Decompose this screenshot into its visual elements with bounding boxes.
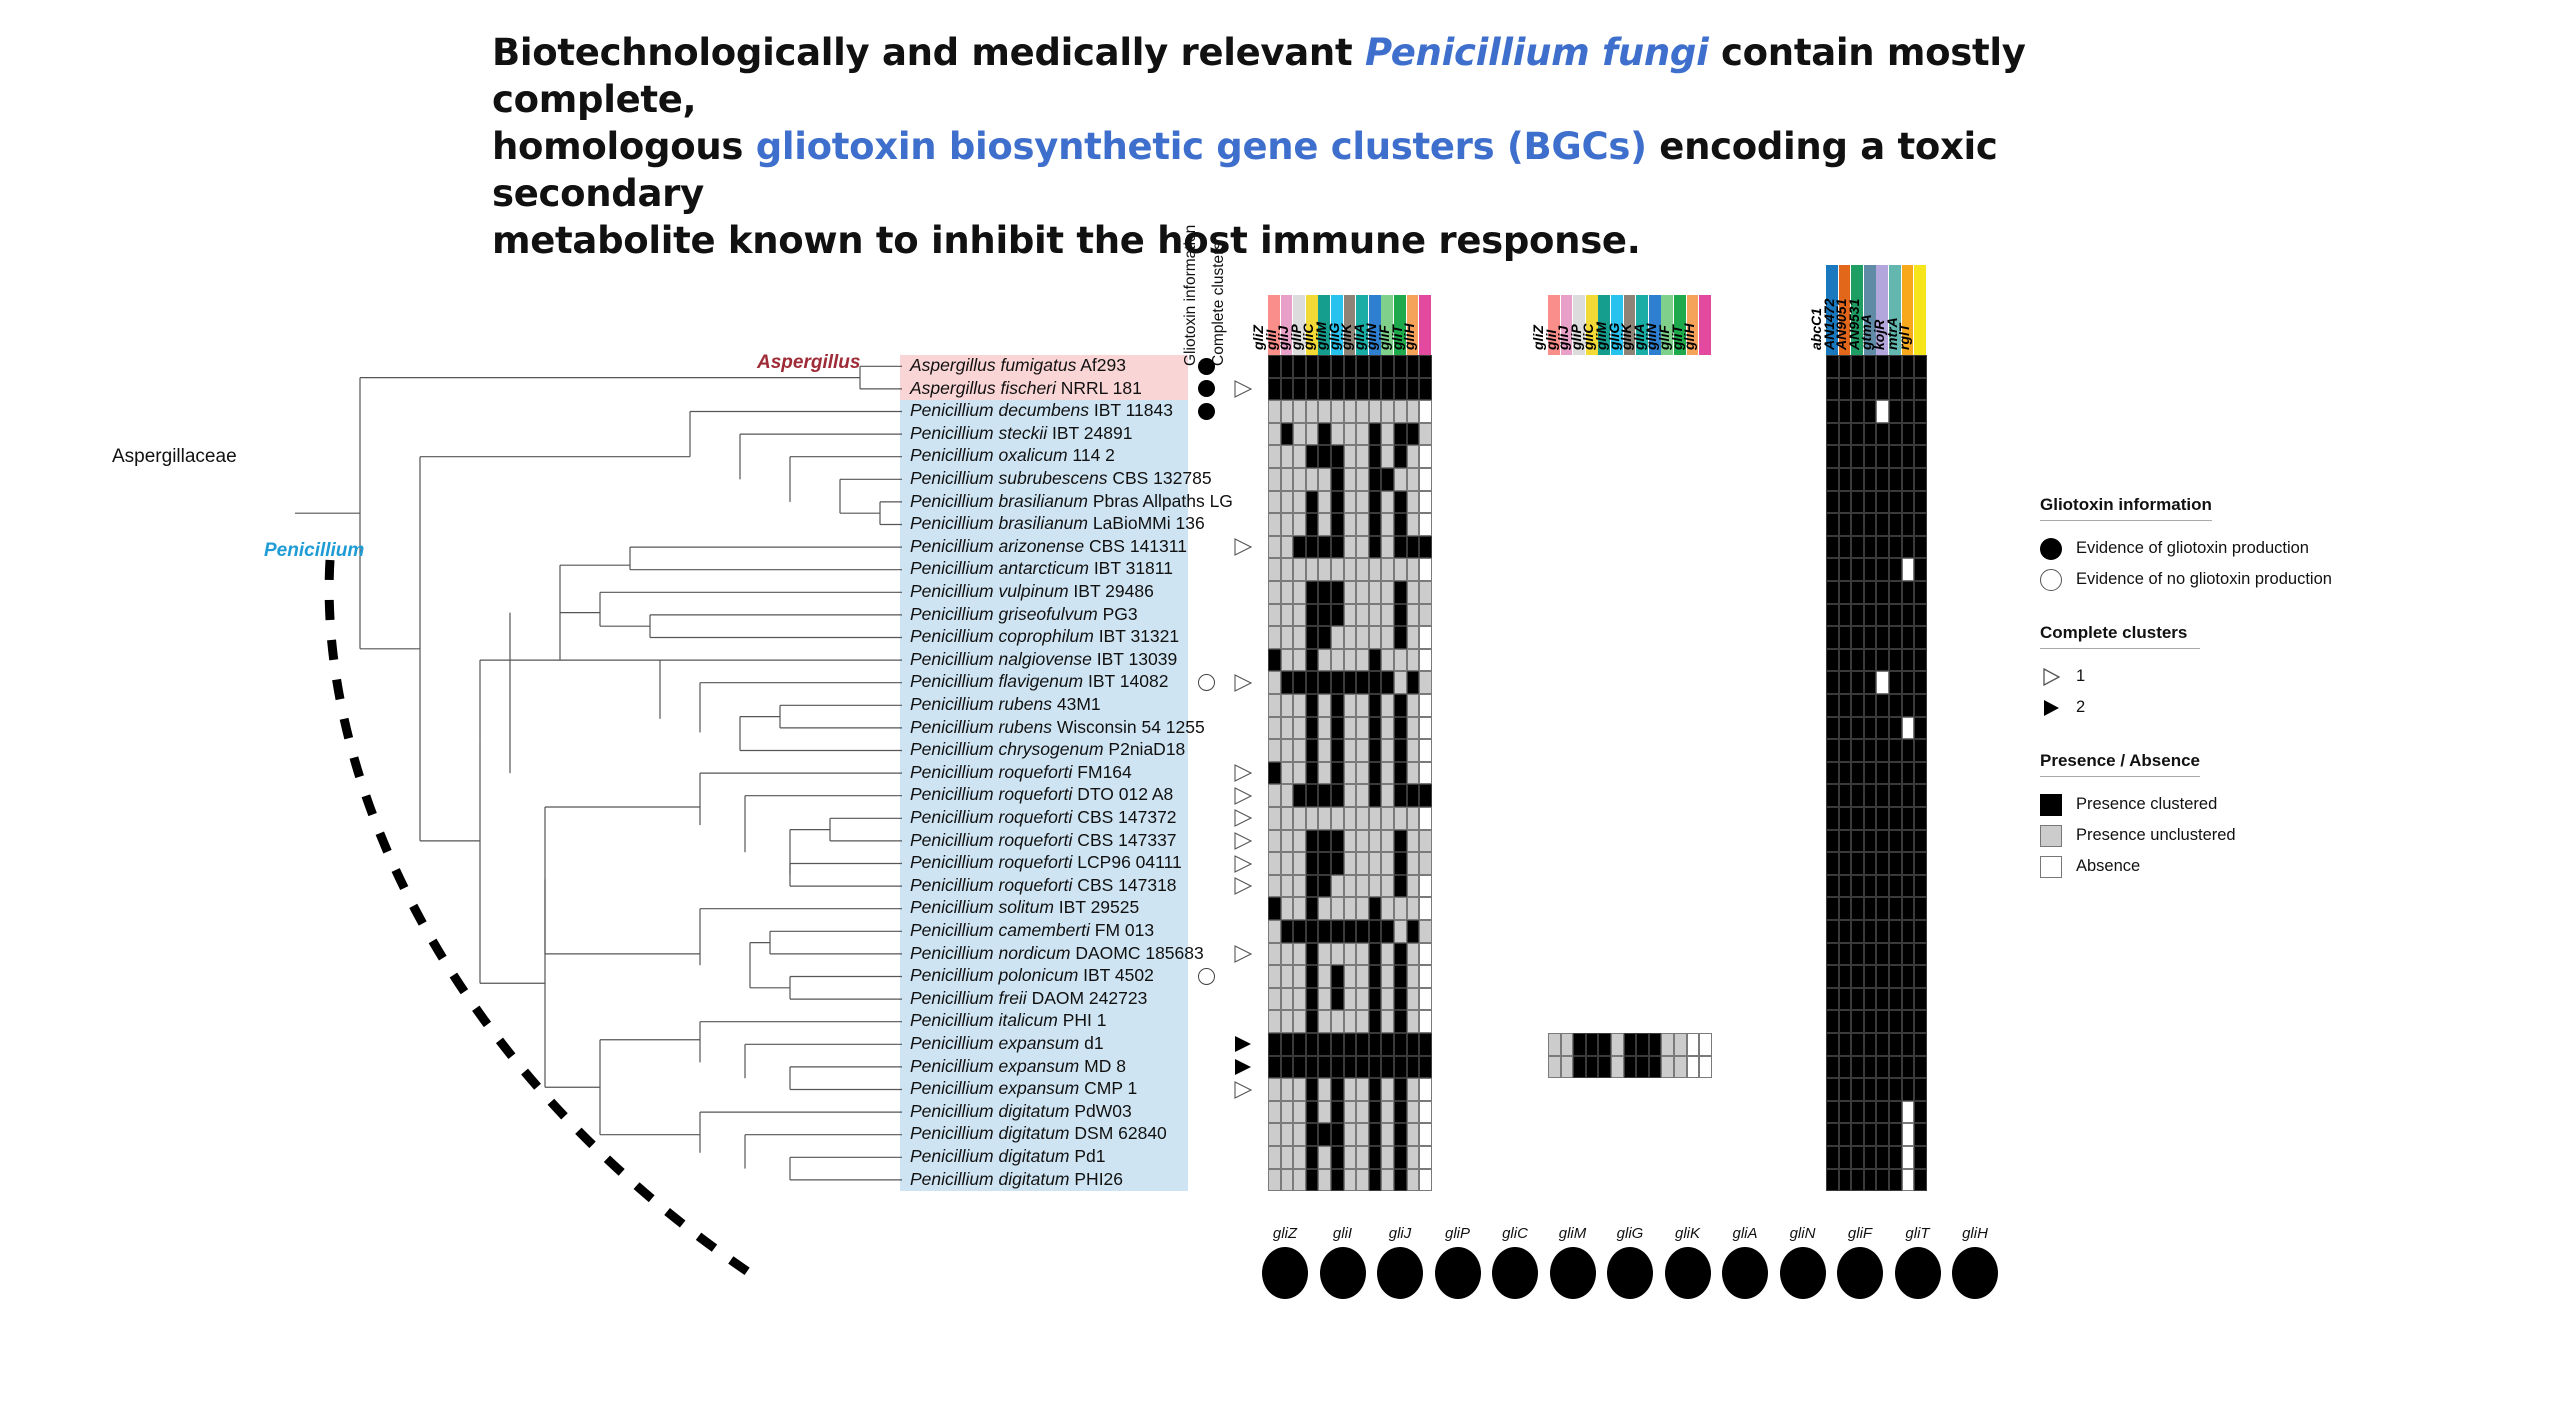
- heatmap-cell: [1826, 378, 1839, 401]
- heatmap-cell: [1407, 830, 1420, 853]
- heatmap-cell: [1356, 739, 1369, 762]
- taxon-species: Penicillium rubens: [910, 717, 1052, 737]
- heatmap-cell: [1851, 830, 1864, 853]
- heatmap-cell: [1419, 400, 1432, 423]
- heatmap-cell: [1674, 1033, 1687, 1056]
- heatmap-cell: [1407, 1101, 1420, 1124]
- heatmap-cell: [1331, 649, 1344, 672]
- heatmap-cell: [1394, 920, 1407, 943]
- heatmap-cell: [1331, 1146, 1344, 1169]
- heatmap-cell: [1889, 943, 1902, 966]
- legend-panel: Gliotoxin information Evidence of glioto…: [2040, 495, 2470, 910]
- heatmap-cell: [1419, 988, 1432, 1011]
- heatmap-cell: [1293, 875, 1306, 898]
- heatmap-cell: [1293, 400, 1306, 423]
- heatmap-cell: [1902, 852, 1915, 875]
- taxon-species: Penicillium oxalicum: [910, 445, 1068, 465]
- heatmap-cell: [1876, 604, 1889, 627]
- heatmap-cell: [1369, 1010, 1382, 1033]
- heatmap-cell: [1826, 807, 1839, 830]
- heatmap-cell: [1331, 513, 1344, 536]
- heatmap-cell: [1661, 1033, 1674, 1056]
- legend-item: 1: [2040, 661, 2470, 692]
- heatmap-cell: [1356, 649, 1369, 672]
- heatmap-cell: [1344, 468, 1357, 491]
- heatmap-cell: [1586, 1033, 1599, 1056]
- heatmap-cell: [1876, 875, 1889, 898]
- heatmap-cell: [1876, 581, 1889, 604]
- heatmap-cell: [1381, 581, 1394, 604]
- heatmap-cell: [1839, 852, 1852, 875]
- heatmap-cell: [1268, 423, 1281, 446]
- heatmap-cell: [1839, 943, 1852, 966]
- heatmap-cell: [1344, 965, 1357, 988]
- heatmap-cell: [1851, 513, 1864, 536]
- heatmap-cell: [1902, 1101, 1915, 1124]
- heatmap-cell: [1889, 1123, 1902, 1146]
- open-triangle-icon: [2040, 666, 2062, 688]
- heatmap-cell: [1864, 1146, 1877, 1169]
- legend-label: Presence clustered: [2076, 795, 2217, 814]
- heatmap-cell: [1381, 784, 1394, 807]
- heatmap-cell: [1356, 920, 1369, 943]
- heatmap-cell: [1902, 739, 1915, 762]
- heatmap-cell: [1407, 671, 1420, 694]
- heatmap-cell: [1407, 1123, 1420, 1146]
- heatmap-cell: [1331, 468, 1344, 491]
- taxon-species: Penicillium antarcticum: [910, 558, 1089, 578]
- heatmap-cell: [1344, 378, 1357, 401]
- heatmap-cell: [1318, 739, 1331, 762]
- gene-header-label: rglT: [1893, 324, 1915, 353]
- taxon-strain: IBT 13039: [1092, 649, 1177, 669]
- heatmap-cell: [1851, 988, 1864, 1011]
- taxon-label: Penicillium solitum IBT 29525: [910, 896, 1139, 919]
- heatmap-cell: [1369, 355, 1382, 378]
- heatmap-cell: [1344, 649, 1357, 672]
- heatmap-cell: [1293, 762, 1306, 785]
- heatmap-cell: [1876, 988, 1889, 1011]
- complete-clusters-1-icon: [1234, 945, 1252, 968]
- heatmap-cell: [1864, 852, 1877, 875]
- heatmap-cell: [1394, 1078, 1407, 1101]
- heatmap-cell: [1902, 1123, 1915, 1146]
- heatmap-cell: [1611, 1056, 1624, 1079]
- heatmap-cell: [1839, 830, 1852, 853]
- legend-label: Absence: [2076, 857, 2140, 876]
- heatmap-cell: [1281, 920, 1294, 943]
- heatmap-cell: [1851, 943, 1864, 966]
- heatmap-cell: [1889, 920, 1902, 943]
- heatmap-cell: [1407, 965, 1420, 988]
- heatmap-cell: [1851, 423, 1864, 446]
- heatmap-cell: [1356, 355, 1369, 378]
- heatmap-cell: [1318, 671, 1331, 694]
- heatmap-cell: [1394, 626, 1407, 649]
- heatmap-cell: [1826, 988, 1839, 1011]
- heatmap-cell: [1902, 491, 1915, 514]
- no-gliotoxin-production-icon: [1198, 968, 1215, 985]
- heatmap-cell: [1419, 468, 1432, 491]
- heatmap-cell: [1331, 1033, 1344, 1056]
- heatmap-cell: [1889, 988, 1902, 1011]
- taxon-strain: Pbras Allpaths LG: [1088, 491, 1233, 511]
- heatmap-cell: [1876, 626, 1889, 649]
- heatmap-cell: [1369, 965, 1382, 988]
- heatmap-cell: [1318, 604, 1331, 627]
- taxon-label: Penicillium decumbens IBT 11843: [910, 399, 1173, 422]
- heatmap-cell: [1876, 784, 1889, 807]
- heatmap-cell: [1902, 468, 1915, 491]
- heatmap-cell: [1407, 762, 1420, 785]
- heatmap-cell: [1318, 491, 1331, 514]
- heatmap-cell: [1889, 536, 1902, 559]
- heatmap-cell: [1306, 1010, 1319, 1033]
- heatmap-cell: [1369, 830, 1382, 853]
- heatmap-cell: [1331, 807, 1344, 830]
- heatmap-cell: [1851, 694, 1864, 717]
- heatmap-cell: [1394, 1146, 1407, 1169]
- heatmap-cell: [1851, 1010, 1864, 1033]
- heatmap-cell: [1281, 1078, 1294, 1101]
- heatmap-cell: [1889, 694, 1902, 717]
- heatmap-cell: [1826, 400, 1839, 423]
- taxon-label: Penicillium polonicum IBT 4502: [910, 964, 1154, 987]
- heatmap-cell: [1369, 400, 1382, 423]
- heatmap-cell: [1268, 445, 1281, 468]
- heatmap-cell: [1318, 1056, 1331, 1079]
- heatmap-cell: [1281, 807, 1294, 830]
- heatmap-cell: [1344, 1033, 1357, 1056]
- heatmap-cell: [1419, 897, 1432, 920]
- gliotoxin-production-icon: [1198, 403, 1215, 420]
- heatmap-cell: [1864, 739, 1877, 762]
- taxon-label: Penicillium brasilianum Pbras Allpaths L…: [910, 490, 1233, 513]
- filled-circle-icon: [2040, 538, 2062, 560]
- heatmap-cell: [1306, 784, 1319, 807]
- heatmap-cell: [1344, 807, 1357, 830]
- heatmap-cell: [1826, 355, 1839, 378]
- heatmap-cell: [1318, 920, 1331, 943]
- heatmap-cell: [1356, 400, 1369, 423]
- heatmap-cell: [1369, 807, 1382, 830]
- legend-title-presence: Presence / Absence: [2040, 751, 2200, 777]
- heatmap-cell: [1839, 649, 1852, 672]
- heatmap-cell: [1902, 694, 1915, 717]
- heatmap-cell: [1394, 897, 1407, 920]
- heatmap-cell: [1318, 445, 1331, 468]
- heatmap-cell: [1914, 717, 1927, 740]
- heatmap-cell: [1876, 513, 1889, 536]
- heatmap-cell: [1331, 875, 1344, 898]
- heatmap-cell: [1318, 897, 1331, 920]
- heatmap-cell: [1876, 965, 1889, 988]
- heatmap-cell: [1293, 830, 1306, 853]
- heatmap-cell: [1281, 762, 1294, 785]
- taxon-label: Penicillium expansum d1: [910, 1032, 1104, 1055]
- heatmap-cell: [1268, 513, 1281, 536]
- heatmap-cell: [1889, 671, 1902, 694]
- heatmap-cell: [1268, 1078, 1281, 1101]
- heatmap-cell: [1281, 717, 1294, 740]
- heatmap-cell: [1306, 1101, 1319, 1124]
- heatmap-cell: [1381, 717, 1394, 740]
- bottom-gene-label: gliN: [1780, 1225, 1826, 1242]
- heatmap-cell: [1864, 1123, 1877, 1146]
- complete-clusters-1-icon: [1234, 764, 1252, 787]
- heatmap-cell: [1407, 784, 1420, 807]
- heatmap-cell: [1381, 1123, 1394, 1146]
- heatmap-cell: [1839, 920, 1852, 943]
- family-label: Aspergillaceae: [112, 446, 237, 468]
- heatmap-cell: [1356, 807, 1369, 830]
- heatmap-cell: [1407, 581, 1420, 604]
- heatmap-cell: [1356, 875, 1369, 898]
- heatmap-cell: [1611, 1033, 1624, 1056]
- gene-header-chip: gliH: [1419, 295, 1431, 355]
- heatmap-cell: [1356, 558, 1369, 581]
- heatmap-cell: [1306, 1078, 1319, 1101]
- heatmap-cell: [1293, 717, 1306, 740]
- heatmap-cell: [1293, 1033, 1306, 1056]
- heatmap-cell: [1369, 784, 1382, 807]
- heatmap-cell: [1902, 988, 1915, 1011]
- heatmap-cell: [1419, 649, 1432, 672]
- heatmap-cell: [1864, 378, 1877, 401]
- heatmap-cell: [1394, 649, 1407, 672]
- legend-item: Presence clustered: [2040, 789, 2470, 820]
- heatmap-cell: [1864, 626, 1877, 649]
- heatmap-cell: [1331, 897, 1344, 920]
- heatmap-cell: [1356, 604, 1369, 627]
- heatmap-cell: [1381, 513, 1394, 536]
- bottom-gene-label: gliK: [1665, 1225, 1711, 1242]
- heatmap-cell: [1268, 1146, 1281, 1169]
- heatmap-cell: [1268, 875, 1281, 898]
- taxon-label: Penicillium digitatum DSM 62840: [910, 1122, 1167, 1145]
- heatmap-cell: [1281, 355, 1294, 378]
- bottom-gene-label: gliI: [1320, 1225, 1366, 1242]
- heatmap-cell: [1306, 423, 1319, 446]
- heatmap-cell: [1318, 943, 1331, 966]
- heatmap-cell: [1864, 649, 1877, 672]
- heatmap-cell: [1914, 920, 1927, 943]
- heatmap-cell: [1407, 1033, 1420, 1056]
- taxon-species: Penicillium nalgiovense: [910, 649, 1092, 669]
- heatmap-cell: [1649, 1033, 1662, 1056]
- taxon-strain: PHI 1: [1058, 1010, 1107, 1030]
- heatmap-cell: [1914, 513, 1927, 536]
- heatmap-cell: [1914, 807, 1927, 830]
- heatmap-cell: [1306, 671, 1319, 694]
- heatmap-cell: [1331, 423, 1344, 446]
- heatmap-cell: [1306, 1033, 1319, 1056]
- taxon-species: Penicillium roqueforti: [910, 762, 1072, 782]
- heatmap-cell: [1902, 965, 1915, 988]
- heatmap-cell: [1369, 378, 1382, 401]
- heatmap-cell: [1902, 1056, 1915, 1079]
- heatmap-cell: [1826, 1078, 1839, 1101]
- heatmap-cell: [1419, 378, 1432, 401]
- legend-clusters: Complete clusters 1 2: [2040, 623, 2470, 723]
- heatmap-cell: [1699, 1033, 1712, 1056]
- heatmap-cell: [1318, 965, 1331, 988]
- heatmap-cell: [1839, 491, 1852, 514]
- heatmap-cell: [1381, 694, 1394, 717]
- heatmap-cell: [1318, 762, 1331, 785]
- heatmap-cell: [1281, 558, 1294, 581]
- legend-label: 1: [2076, 667, 2085, 686]
- heatmap-cell: [1344, 558, 1357, 581]
- heatmap-cell: [1839, 1010, 1852, 1033]
- heatmap-cell: [1293, 649, 1306, 672]
- heatmap-cell: [1318, 1033, 1331, 1056]
- taxon-strain: DSM 62840: [1070, 1123, 1167, 1143]
- heatmap-cell: [1826, 1010, 1839, 1033]
- taxon-species: Penicillium roqueforti: [910, 875, 1072, 895]
- heatmap-cell: [1876, 468, 1889, 491]
- heatmap-cell: [1902, 875, 1915, 898]
- heatmap-cell: [1369, 626, 1382, 649]
- heatmap-cell: [1876, 1123, 1889, 1146]
- heatmap-cell: [1306, 875, 1319, 898]
- heatmap-cell: [1369, 671, 1382, 694]
- heatmap-cell: [1369, 1146, 1382, 1169]
- heatmap-cell: [1876, 536, 1889, 559]
- taxon-strain: 114 2: [1068, 445, 1115, 465]
- heatmap-cell: [1394, 536, 1407, 559]
- heatmap-cell: [1407, 355, 1420, 378]
- heatmap-cell: [1381, 400, 1394, 423]
- legend-label: Evidence of gliotoxin production: [2076, 539, 2309, 558]
- complete-clusters-2-icon: [1234, 1035, 1252, 1058]
- heatmap-cell: [1293, 513, 1306, 536]
- heatmap-cell: [1889, 1146, 1902, 1169]
- heatmap-cell: [1851, 649, 1864, 672]
- heatmap-cell: [1851, 807, 1864, 830]
- heatmap-cell: [1306, 897, 1319, 920]
- heatmap-cell: [1839, 1146, 1852, 1169]
- heatmap-cell: [1268, 897, 1281, 920]
- heatmap-cell: [1381, 671, 1394, 694]
- heatmap-cell: [1331, 784, 1344, 807]
- heatmap-cell: [1331, 1123, 1344, 1146]
- heatmap-cell: [1826, 920, 1839, 943]
- heatmap-cell: [1419, 581, 1432, 604]
- heatmap-cell: [1839, 807, 1852, 830]
- heatmap-cell: [1851, 762, 1864, 785]
- heatmap-cell: [1381, 943, 1394, 966]
- heatmap-cell: [1331, 400, 1344, 423]
- heatmap-cell: [1851, 1033, 1864, 1056]
- heatmap-cell: [1902, 671, 1915, 694]
- heatmap-cell: [1826, 468, 1839, 491]
- heatmap-cell: [1889, 1169, 1902, 1192]
- heatmap-cell: [1889, 491, 1902, 514]
- heatmap-cell: [1281, 400, 1294, 423]
- heatmap-cell: [1876, 1169, 1889, 1192]
- heatmap-cell: [1864, 1033, 1877, 1056]
- heatmap-cell: [1407, 604, 1420, 627]
- header-complete-clusters: Complete clusters: [1210, 242, 1228, 366]
- heatmap-cell: [1356, 1078, 1369, 1101]
- heatmap-cell: [1394, 558, 1407, 581]
- heatmap-cell: [1687, 1033, 1700, 1056]
- heatmap-cell: [1331, 965, 1344, 988]
- heatmap-cell: [1344, 1123, 1357, 1146]
- heatmap-cell: [1394, 445, 1407, 468]
- heatmap-cell: [1902, 1010, 1915, 1033]
- heatmap-cell: [1864, 965, 1877, 988]
- taxon-label: Penicillium roqueforti CBS 147318: [910, 874, 1177, 897]
- heatmap-cell: [1419, 830, 1432, 853]
- heatmap-cell: [1586, 1056, 1599, 1079]
- heatmap-cell: [1381, 626, 1394, 649]
- taxon-strain: FM164: [1072, 762, 1131, 782]
- heatmap-cell: [1281, 445, 1294, 468]
- heatmap-cell: [1826, 513, 1839, 536]
- heatmap-cell: [1381, 491, 1394, 514]
- heatmap-cell: [1876, 378, 1889, 401]
- heatmap-cell: [1419, 626, 1432, 649]
- taxon-label: Aspergillus fumigatus Af293: [910, 354, 1126, 377]
- heatmap-cell: [1268, 965, 1281, 988]
- heatmap-cell: [1281, 491, 1294, 514]
- heatmap-cell: [1356, 1101, 1369, 1124]
- taxon-species: Penicillium steckii: [910, 423, 1047, 443]
- heatmap-cell: [1851, 626, 1864, 649]
- heatmap-cell: [1914, 739, 1927, 762]
- heatmap-cell: [1394, 1010, 1407, 1033]
- heatmap-cell: [1876, 1033, 1889, 1056]
- heatmap-cell: [1356, 943, 1369, 966]
- heatmap-cell: [1281, 1169, 1294, 1192]
- taxon-strain: CMP 1: [1079, 1078, 1137, 1098]
- heatmap-cell: [1331, 920, 1344, 943]
- heatmap-cell: [1407, 988, 1420, 1011]
- heatmap-cell: [1381, 807, 1394, 830]
- heatmap-cell: [1889, 355, 1902, 378]
- heatmap-cell: [1394, 400, 1407, 423]
- heatmap-cell: [1839, 604, 1852, 627]
- heatmap-cell: [1826, 784, 1839, 807]
- heatmap-cell: [1331, 491, 1344, 514]
- heatmap-cell: [1356, 1010, 1369, 1033]
- heatmap-cell: [1381, 875, 1394, 898]
- heatmap-cell: [1331, 739, 1344, 762]
- heatmap-cell: [1826, 739, 1839, 762]
- heatmap-cell: [1293, 1010, 1306, 1033]
- heatmap-cell: [1674, 1056, 1687, 1079]
- heatmap-cell: [1902, 378, 1915, 401]
- taxon-strain: P2niaD18: [1104, 739, 1186, 759]
- heatmap-cell: [1394, 943, 1407, 966]
- black-swatch-icon: [2040, 794, 2062, 816]
- heatmap-cell: [1268, 943, 1281, 966]
- heatmap-cell: [1839, 423, 1852, 446]
- heatmap-cell: [1914, 649, 1927, 672]
- heatmap-cell: [1281, 1146, 1294, 1169]
- heatmap-cell: [1318, 558, 1331, 581]
- taxon-label: Penicillium freii DAOM 242723: [910, 987, 1147, 1010]
- heatmap-cell: [1369, 581, 1382, 604]
- heatmap-cell: [1356, 830, 1369, 853]
- bottom-gene-label: gliG: [1607, 1225, 1653, 1242]
- heatmap-cell: [1318, 649, 1331, 672]
- heatmap-cell: [1699, 1056, 1712, 1079]
- heatmap-cell: [1394, 1056, 1407, 1079]
- taxon-strain: IBT 24891: [1047, 423, 1132, 443]
